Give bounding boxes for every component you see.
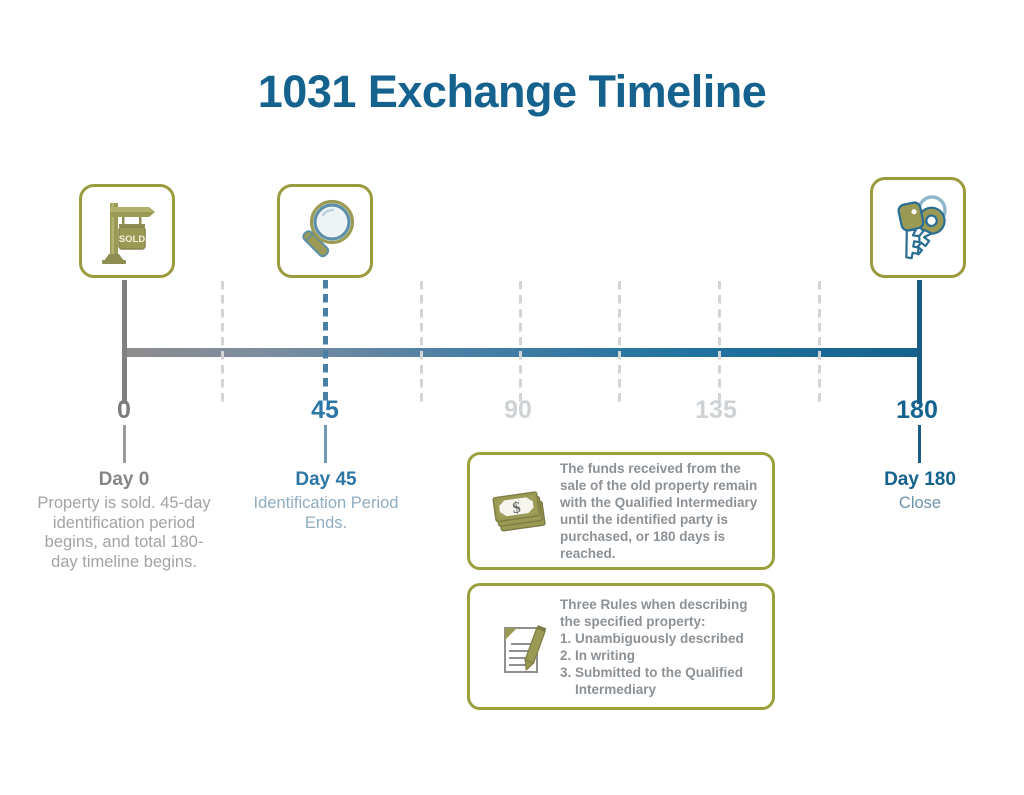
caption-day-180: Day 180 Close xyxy=(840,468,1000,514)
rule-number: 3. xyxy=(560,664,575,698)
caption-day-45-heading: Day 45 xyxy=(240,468,412,492)
rule-text: In writing xyxy=(575,647,758,664)
tick-line-minor-2 xyxy=(420,281,423,403)
tick-line-day-45 xyxy=(323,280,328,404)
axis-label-day-135: 135 xyxy=(656,396,776,425)
caption-day-0-body: Property is sold. 45-day identification … xyxy=(33,494,215,572)
caption-day-180-heading: Day 180 xyxy=(840,468,1000,492)
connector-day-0 xyxy=(123,425,126,463)
list-item: 2. In writing xyxy=(560,647,758,664)
axis-label-day-90: 90 xyxy=(458,396,578,425)
tick-line-minor-1 xyxy=(221,281,224,403)
tick-line-minor-4 xyxy=(618,281,621,403)
tick-line-minor-6 xyxy=(818,281,821,403)
callout-funds-text: The funds received from the sale of the … xyxy=(560,460,758,562)
caption-day-0-heading: Day 0 xyxy=(33,468,215,492)
axis-label-day-45: 45 xyxy=(265,396,385,425)
callout-rules-heading: Three Rules when describing the specifie… xyxy=(560,596,758,630)
tick-line-day-0 xyxy=(122,280,127,404)
callout-funds-icon-wrap: $ xyxy=(484,486,560,536)
document-pencil-icon xyxy=(493,616,551,678)
tick-line-minor-3 xyxy=(519,281,522,403)
list-item: 1. Unambiguously described xyxy=(560,630,758,647)
caption-day-45: Day 45 Identification Period Ends. xyxy=(240,468,412,533)
callout-rules-list: 1. Unambiguously described 2. In writing… xyxy=(560,630,758,698)
callout-rules-icon-wrap xyxy=(484,616,560,678)
caption-day-180-body: Close xyxy=(840,494,1000,514)
caption-day-0: Day 0 Property is sold. 45-day identific… xyxy=(33,468,215,572)
connector-day-45 xyxy=(324,425,327,463)
axis-label-day-180: 180 xyxy=(857,396,977,425)
caption-day-45-body: Identification Period Ends. xyxy=(240,494,412,533)
rule-number: 2. xyxy=(560,647,575,664)
list-item: 3. Submitted to the Qualified Intermedia… xyxy=(560,664,758,698)
tick-line-minor-5 xyxy=(718,281,721,403)
callout-funds: $ The funds received from the sale of th… xyxy=(467,452,775,570)
callout-rules: Three Rules when describing the specifie… xyxy=(467,583,775,710)
connector-day-180 xyxy=(918,425,921,463)
rule-text: Submitted to the Qualified Intermediary xyxy=(575,664,758,698)
rule-text: Unambiguously described xyxy=(575,630,758,647)
callout-rules-text: Three Rules when describing the specifie… xyxy=(560,596,758,698)
rule-number: 1. xyxy=(560,630,575,647)
cash-stack-icon: $ xyxy=(492,486,552,536)
axis-label-day-0: 0 xyxy=(64,396,184,425)
tick-line-day-180 xyxy=(917,280,922,404)
